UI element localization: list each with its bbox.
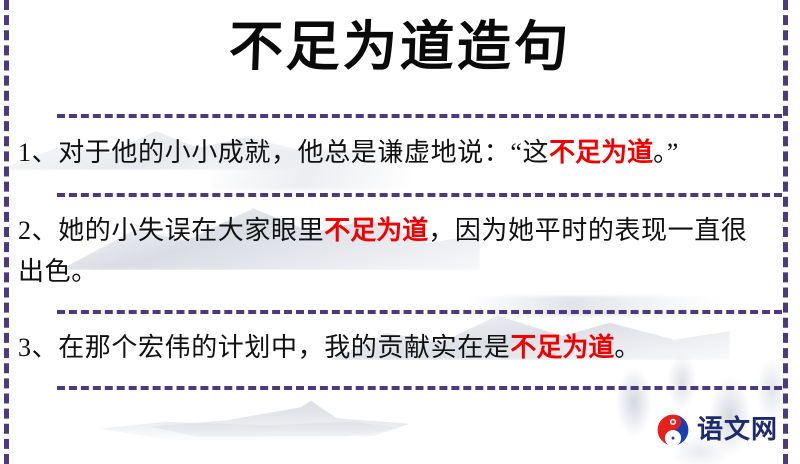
example-sentence-2: 2、她的小失误在大家眼里不足为道，因为她平时的表现一直很出色。	[18, 210, 770, 292]
sentence-1-highlight: 不足为道	[549, 138, 653, 167]
separator-rule-4	[57, 386, 782, 390]
separator-rule-2	[57, 193, 782, 197]
separator-rule-1	[57, 114, 782, 118]
yinyang-fish-icon	[655, 412, 691, 448]
sentence-2-number: 2、	[18, 216, 58, 245]
sentence-1-number: 1、	[18, 138, 58, 167]
page-title: 不足为道造句	[0, 14, 800, 82]
example-sentence-1: 1、对于他的小小成就，他总是谦虚地说：“这不足为道。”	[18, 132, 770, 173]
sentence-3-pre: 在那个宏伟的计划中，我的贡献实在是	[58, 333, 510, 362]
slide-page: 不足为道造句 1、对于他的小小成就，他总是谦虚地说：“这不足为道。” 2、她的小…	[0, 0, 800, 464]
sentence-2-highlight: 不足为道	[324, 216, 428, 245]
site-logo-text: 语文网	[697, 417, 778, 443]
slide-content: 不足为道造句 1、对于他的小小成就，他总是谦虚地说：“这不足为道。” 2、她的小…	[0, 0, 800, 464]
sentence-1-pre: 对于他的小小成就，他总是谦虚地说：“这	[58, 138, 549, 167]
sentence-3-highlight: 不足为道	[510, 333, 614, 362]
separator-rule-3	[57, 310, 782, 314]
site-logo: 语文网	[655, 412, 778, 448]
sentence-2-pre: 她的小失误在大家眼里	[58, 216, 324, 245]
sentence-3-number: 3、	[18, 333, 58, 362]
example-sentence-3: 3、在那个宏伟的计划中，我的贡献实在是不足为道。	[18, 327, 770, 368]
sentence-1-post: 。”	[653, 138, 679, 167]
sentence-3-post: 。	[614, 333, 641, 362]
